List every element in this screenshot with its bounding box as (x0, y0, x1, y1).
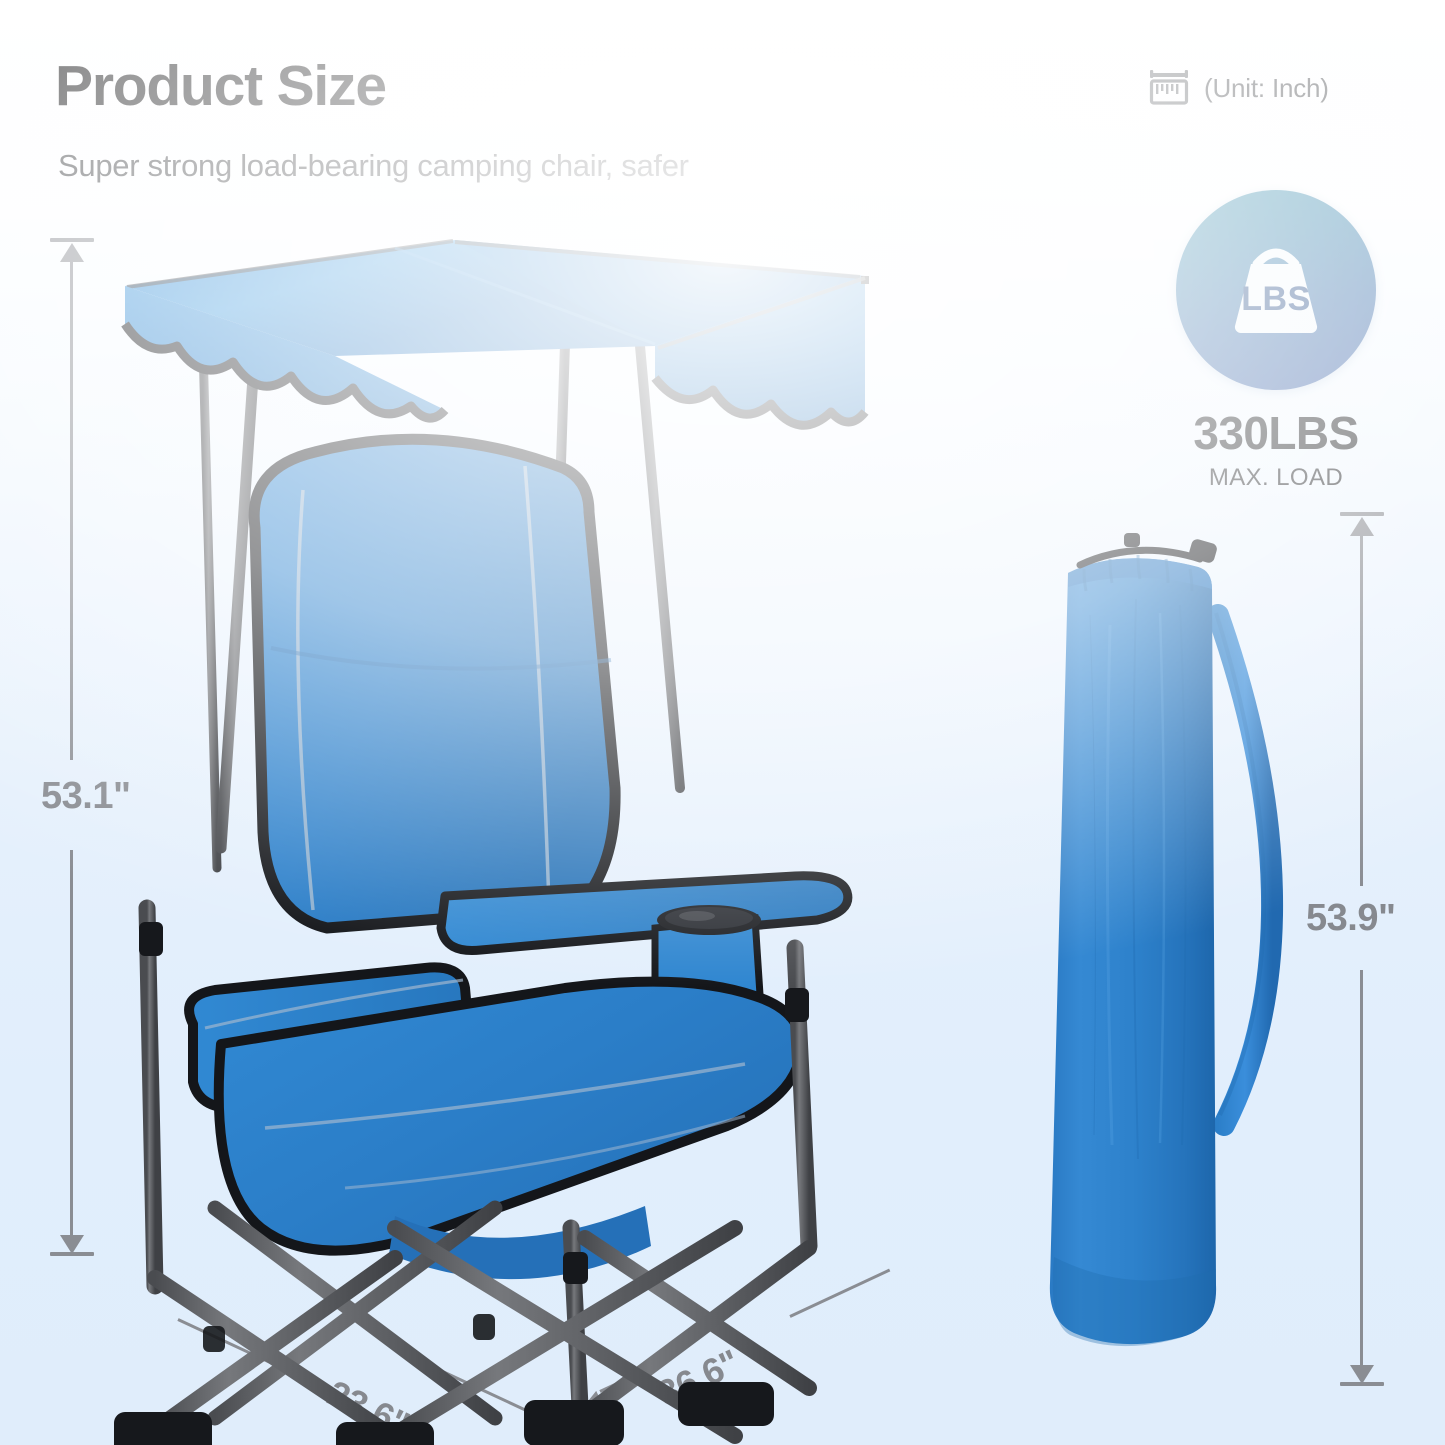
max-load-caption: MAX. LOAD (1152, 464, 1400, 492)
page-subtitle: Super strong load-bearing camping chair,… (58, 148, 689, 184)
bag-body (1050, 555, 1216, 1346)
unit-label: (Unit: Inch) (1204, 73, 1329, 104)
weight-icon: LBS (1217, 234, 1335, 346)
badge-icon-text: LBS (1241, 280, 1311, 318)
max-load-value: 330LBS (1152, 406, 1400, 460)
canopy (125, 240, 865, 425)
carry-bag-image (1040, 495, 1290, 1375)
unit-indicator: (Unit: Inch) (1148, 68, 1329, 108)
infographic-canvas: Product Size Super strong load-bearing c… (0, 0, 1445, 1445)
canopy-camping-chair-image (95, 228, 885, 1438)
badge-circle: LBS (1176, 190, 1376, 390)
max-load-badge: LBS 330LBS MAX. LOAD (1152, 190, 1400, 492)
bag-height-label: 53.9" (1306, 897, 1395, 940)
ruler-icon (1148, 68, 1190, 108)
chair-back (254, 439, 615, 928)
bag-shoulder-strap (1216, 613, 1272, 1125)
page-title: Product Size (55, 57, 386, 117)
